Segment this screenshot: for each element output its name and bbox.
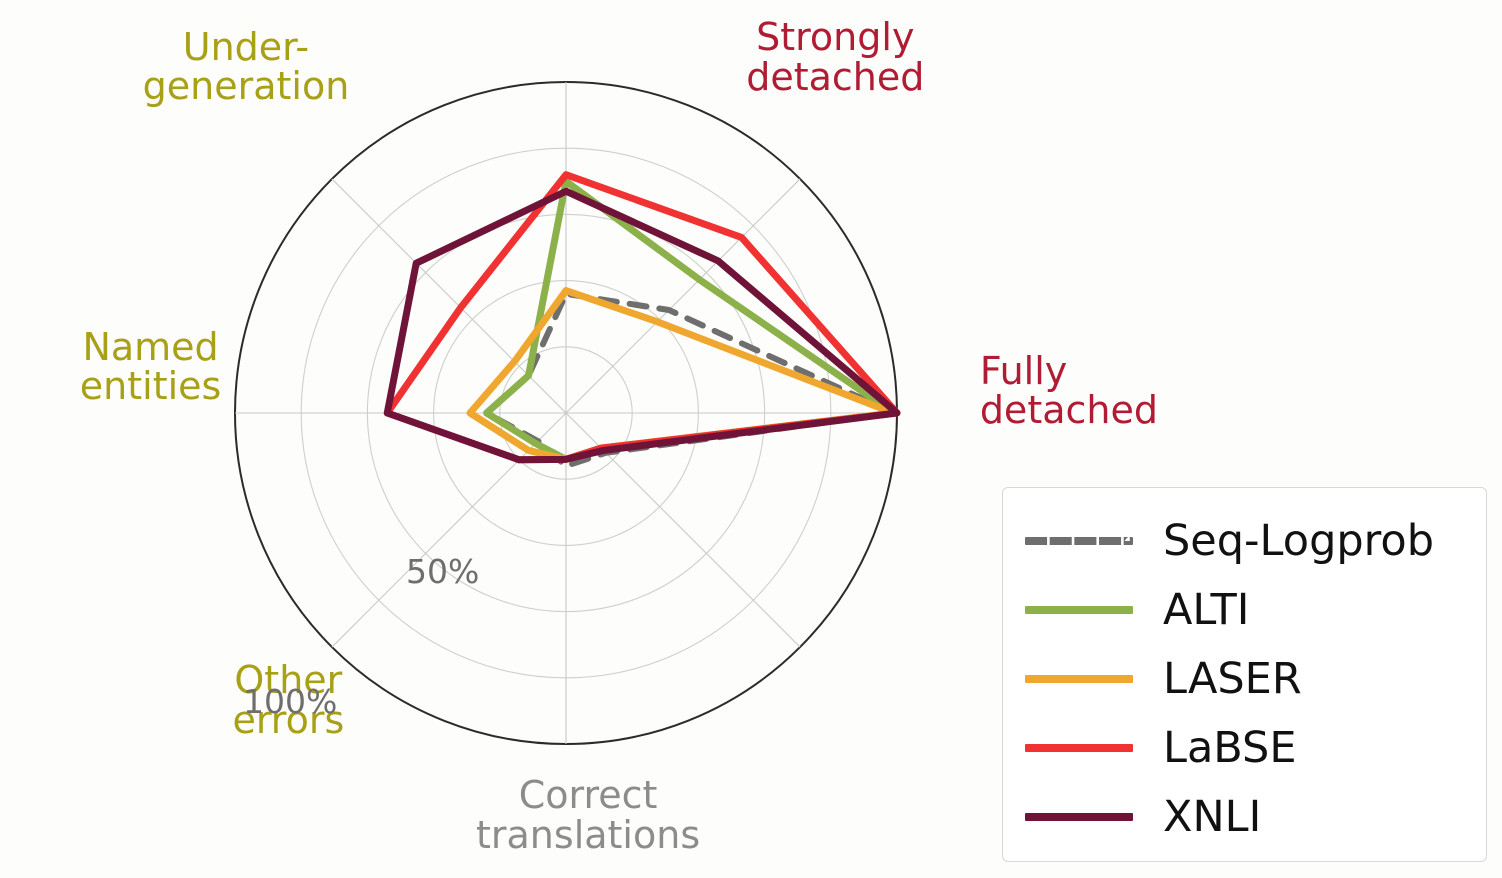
- legend-item-seq-logprob[interactable]: Seq-Logprob: [1025, 506, 1476, 575]
- legend-line-sample: [1025, 606, 1133, 614]
- legend-line-sample: [1025, 744, 1133, 752]
- legend-label: ALTI: [1163, 585, 1249, 635]
- legend-swatch-xnli-icon: [1025, 807, 1133, 827]
- legend-label: LASER: [1163, 654, 1302, 704]
- legend-line-sample: [1025, 537, 1133, 545]
- radial-tick-50: 50%: [406, 552, 479, 591]
- legend-swatch-seq-logprob-icon: [1025, 531, 1133, 551]
- legend-swatch-alti-icon: [1025, 600, 1133, 620]
- legend-item-xnli[interactable]: XNLI: [1025, 782, 1476, 851]
- legend-line-sample: [1025, 675, 1133, 683]
- legend-swatch-labse-icon: [1025, 738, 1133, 758]
- radial-tick-100: 100%: [243, 682, 337, 721]
- legend-item-labse[interactable]: LaBSE: [1025, 713, 1476, 782]
- legend-label: Seq-Logprob: [1163, 516, 1434, 566]
- legend-item-laser[interactable]: LASER: [1025, 644, 1476, 713]
- series-layer: [387, 175, 897, 466]
- legend-swatch-laser-icon: [1025, 669, 1133, 689]
- legend-label: XNLI: [1163, 792, 1261, 842]
- legend-item-alti[interactable]: ALTI: [1025, 575, 1476, 644]
- legend-label: LaBSE: [1163, 723, 1297, 773]
- legend-line-sample: [1025, 813, 1133, 821]
- chart-legend[interactable]: Seq-LogprobALTILASERLaBSEXNLI: [1002, 487, 1487, 862]
- radar-chart-figure: Fully detachedStrongly detachedOscillato…: [0, 0, 1502, 878]
